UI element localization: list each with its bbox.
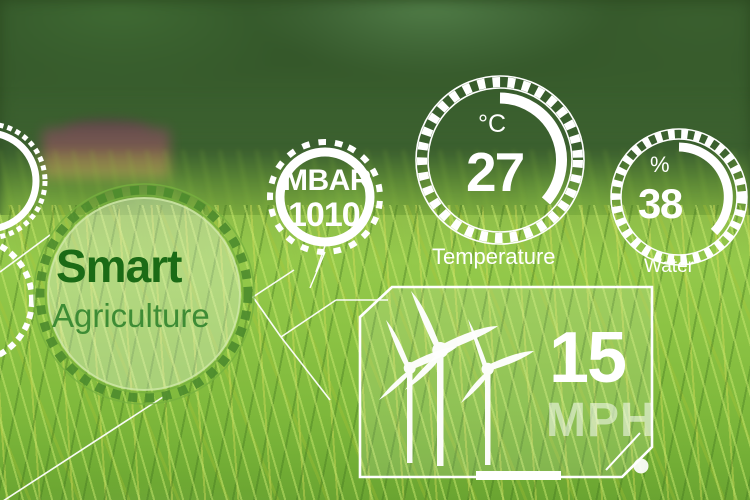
brand-line-1: Smart bbox=[56, 239, 181, 293]
wind-speed-unit-label: MPH bbox=[546, 393, 656, 448]
temperature-caption: Temperature bbox=[432, 244, 556, 270]
pressure-unit-label: MBAR bbox=[283, 164, 371, 198]
smart-agriculture-badge[interactable] bbox=[34, 184, 254, 404]
pressure-value: 1010 bbox=[288, 196, 360, 235]
water-caption: Water bbox=[644, 256, 694, 278]
water-progress-arc bbox=[679, 147, 728, 232]
brand-line-2: Agriculture bbox=[52, 297, 210, 335]
temperature-value: 27 bbox=[466, 140, 523, 204]
temperature-unit-label: °C bbox=[478, 110, 506, 139]
smart-agriculture-infographic: Smart Agriculture MBAR 1010 °C 27 Temper… bbox=[0, 0, 750, 500]
wind-panel-bottom-bar bbox=[476, 471, 561, 480]
water-unit-label: % bbox=[650, 152, 670, 178]
wind-panel-dot bbox=[634, 459, 649, 474]
edge-gauge-partial-lower bbox=[0, 238, 32, 362]
wind-speed-value: 15 bbox=[549, 317, 625, 399]
water-value: 38 bbox=[638, 180, 682, 228]
edge-gauge-partial bbox=[0, 124, 45, 238]
